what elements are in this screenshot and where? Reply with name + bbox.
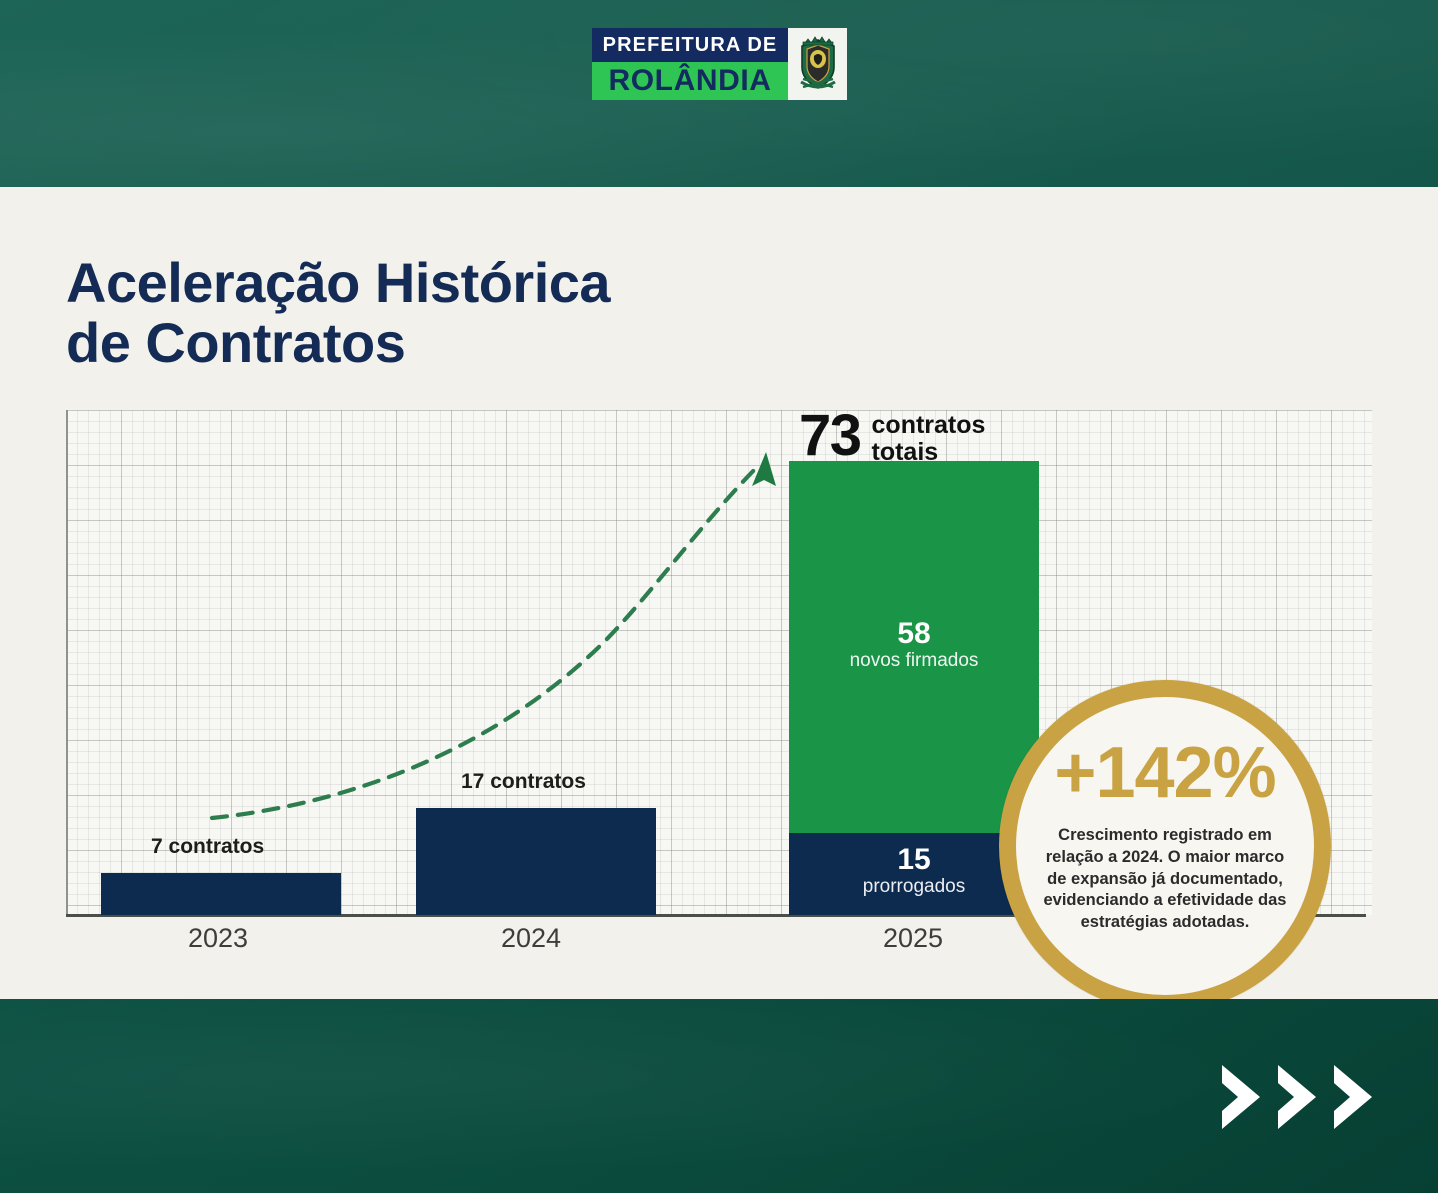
- bottom-banner: [0, 999, 1438, 1193]
- chevron-right-icon[interactable]: [1326, 1061, 1378, 1133]
- logo-wordmark: PREFEITURA DE ROLÂNDIA: [592, 28, 788, 100]
- total-words: contratos totais: [872, 409, 986, 465]
- bar-2025-novos-firmados: 58 novos firmados: [789, 461, 1039, 833]
- growth-percent: +142%: [1054, 737, 1275, 809]
- next-slide-chevrons[interactable]: [1214, 1061, 1378, 1133]
- growth-description: Crescimento registrado em relação a 2024…: [1040, 825, 1290, 934]
- x-label-2025: 2025: [883, 923, 943, 954]
- segment-label-novos: 58 novos firmados: [789, 618, 1039, 672]
- y-axis-line: [66, 410, 68, 915]
- growth-badge: +142% Crescimento registrado em relação …: [999, 680, 1331, 1012]
- logo-line-prefeitura: PREFEITURA DE: [592, 28, 788, 62]
- coat-of-arms-icon: [788, 28, 847, 100]
- chevron-right-icon[interactable]: [1270, 1061, 1322, 1133]
- total-annotation: 73 contratos totais: [799, 409, 985, 465]
- bar-2024-prorrogados: [416, 808, 656, 915]
- segment-value-novos: 58: [789, 618, 1039, 650]
- x-label-2023: 2023: [188, 923, 248, 954]
- bar-2023-prorrogados: [101, 873, 341, 915]
- logo-line-rolandia: ROLÂNDIA: [592, 62, 788, 100]
- segment-sublabel-novos: novos firmados: [789, 650, 1039, 673]
- x-label-2024: 2024: [501, 923, 561, 954]
- slide-body: Aceleração Histórica de Contratos 7 cont…: [0, 187, 1438, 999]
- bar-caption-2023: 7 contratos: [151, 835, 264, 859]
- top-banner: PREFEITURA DE ROLÂNDIA: [0, 0, 1438, 187]
- prefeitura-logo: PREFEITURA DE ROLÂNDIA: [592, 28, 847, 100]
- logo-line2-text: ROLÂNDIA: [608, 64, 771, 98]
- logo-line1-text: PREFEITURA DE: [603, 34, 778, 57]
- bar-caption-2024: 17 contratos: [461, 770, 586, 794]
- page-title: Aceleração Histórica de Contratos: [66, 253, 610, 374]
- chevron-right-icon[interactable]: [1214, 1061, 1266, 1133]
- total-value: 73: [799, 409, 861, 462]
